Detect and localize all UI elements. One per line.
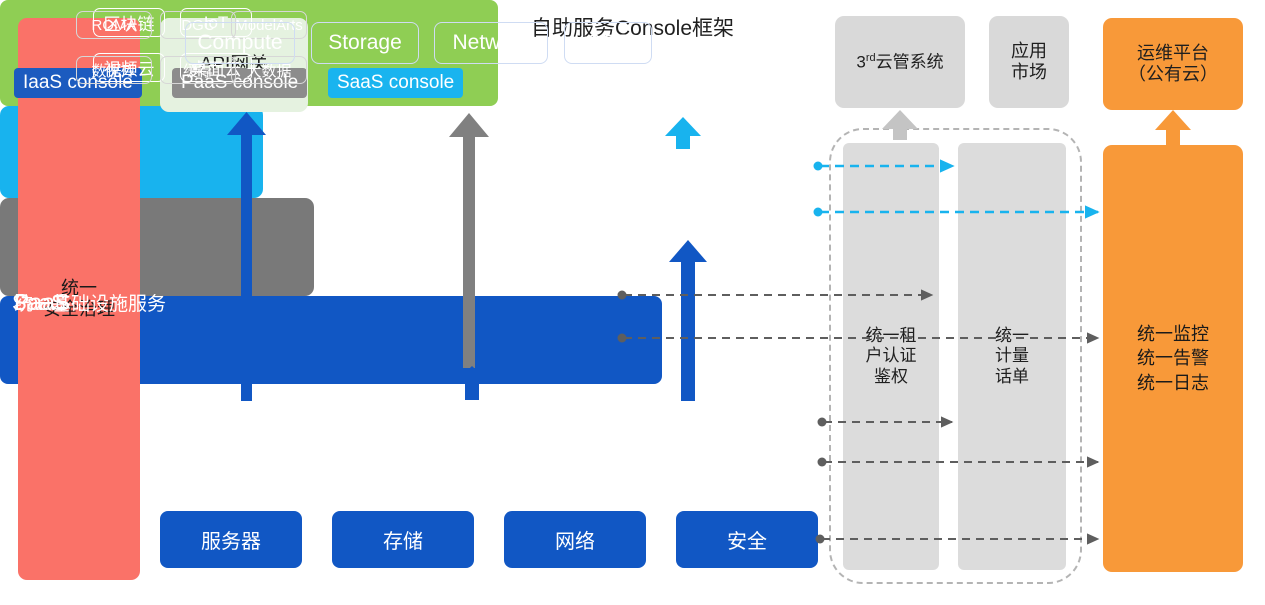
third-party-cloud-mgmt-box[interactable]: 3rd云管系统 [835,16,965,108]
unified-infrastructure-bar[interactable]: 统一基础设施服务 Compute Storage Network CCE [0,296,662,384]
arrow-saas-to-saas-console [665,117,701,149]
arrow-infra-to-saas [669,240,707,401]
resource-box-server[interactable]: 服务器 [160,511,302,568]
resource-box-storage[interactable]: 存储 [332,511,474,568]
infra-chip-network[interactable]: Network [434,22,548,64]
arrow-ops-bar-to-ops-platform [1155,110,1191,146]
ops-platform-public-cloud-box[interactable]: 运维平台 （公有云） [1103,18,1243,110]
shared-tenant-auth-column[interactable]: 统一租 户认证 鉴权 [843,143,939,570]
third-party-prefix: 3 [856,52,865,71]
app-marketplace-box[interactable]: 应用 市场 [989,16,1069,108]
architecture-diagram: 统一 安全治理 API网关 自助服务Console框架 IaaS console… [0,0,1265,605]
resource-box-network[interactable]: 网络 [504,511,646,568]
unified-monitoring-bar[interactable]: 统一监控 统一告警 统一日志 [1103,145,1243,572]
shared-metering-billing-column[interactable]: 统一 计量 话单 [958,143,1066,570]
third-party-ordinal-suffix: rd [866,52,876,64]
unified-infrastructure-label: 统一基础设施服务 [14,0,166,605]
third-party-cloud-mgmt-label: 3rd云管系统 [856,52,943,73]
infra-chip-storage[interactable]: Storage [311,22,419,64]
saas-console-chip[interactable]: SaaS console [328,68,463,98]
infra-chip-cce[interactable]: CCE [564,22,652,64]
infra-chip-compute[interactable]: Compute [185,22,295,64]
third-party-suffix: 云管系统 [876,52,944,71]
resource-box-security[interactable]: 安全 [676,511,818,568]
